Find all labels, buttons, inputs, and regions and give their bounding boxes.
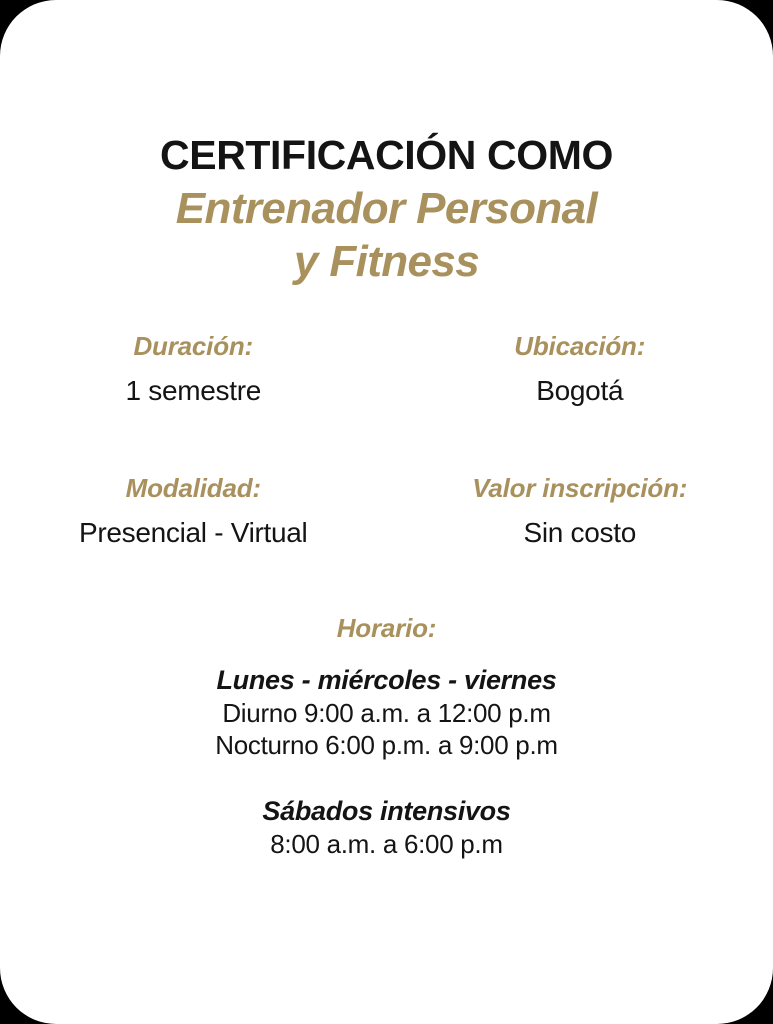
detail-value-ubicacion: Bogotá bbox=[387, 362, 773, 408]
schedule-group-saturday: Sábados intensivos 8:00 a.m. a 6:00 p.m bbox=[0, 795, 773, 860]
schedule-time-nocturno: Nocturno 6:00 p.m. a 9:00 p.m bbox=[0, 729, 773, 761]
detail-value-duracion: 1 semestre bbox=[0, 362, 387, 408]
detail-valor-inscripcion: Valor inscripción: Sin costo bbox=[387, 472, 773, 550]
detail-ubicacion: Ubicación: Bogotá bbox=[387, 330, 773, 408]
detail-row-2: Modalidad: Presencial - Virtual Valor in… bbox=[0, 472, 773, 550]
detail-label-valor-inscripcion: Valor inscripción: bbox=[387, 472, 773, 504]
schedule-label: Horario: bbox=[0, 612, 773, 644]
card-content: CERTIFICACIÓN COMO Entrenador Personal y… bbox=[0, 0, 773, 860]
detail-duracion: Duración: 1 semestre bbox=[0, 330, 387, 408]
program-title-line-2: y Fitness bbox=[0, 235, 773, 288]
schedule-days-saturday: Sábados intensivos bbox=[0, 795, 773, 828]
detail-value-valor-inscripcion: Sin costo bbox=[387, 504, 773, 550]
schedule-time-diurno: Diurno 9:00 a.m. a 12:00 p.m bbox=[0, 697, 773, 729]
detail-label-modalidad: Modalidad: bbox=[0, 472, 387, 504]
page-title: CERTIFICACIÓN COMO bbox=[0, 131, 773, 180]
certification-card: CERTIFICACIÓN COMO Entrenador Personal y… bbox=[0, 0, 773, 1024]
schedule-group-weekdays: Lunes - miércoles - viernes Diurno 9:00 … bbox=[0, 664, 773, 761]
schedule-section: Horario: Lunes - miércoles - viernes Diu… bbox=[0, 612, 773, 860]
detail-value-modalidad: Presencial - Virtual bbox=[0, 504, 387, 550]
detail-label-ubicacion: Ubicación: bbox=[387, 330, 773, 362]
program-title-line-1: Entrenador Personal bbox=[176, 184, 597, 233]
program-title: Entrenador Personal y Fitness bbox=[0, 180, 773, 288]
detail-modalidad: Modalidad: Presencial - Virtual bbox=[0, 472, 387, 550]
detail-label-duracion: Duración: bbox=[0, 330, 387, 362]
detail-row-1: Duración: 1 semestre Ubicación: Bogotá bbox=[0, 330, 773, 408]
schedule-time-saturday: 8:00 a.m. a 6:00 p.m bbox=[0, 828, 773, 860]
schedule-days-weekdays: Lunes - miércoles - viernes bbox=[0, 664, 773, 697]
title-block: CERTIFICACIÓN COMO Entrenador Personal y… bbox=[0, 131, 773, 288]
